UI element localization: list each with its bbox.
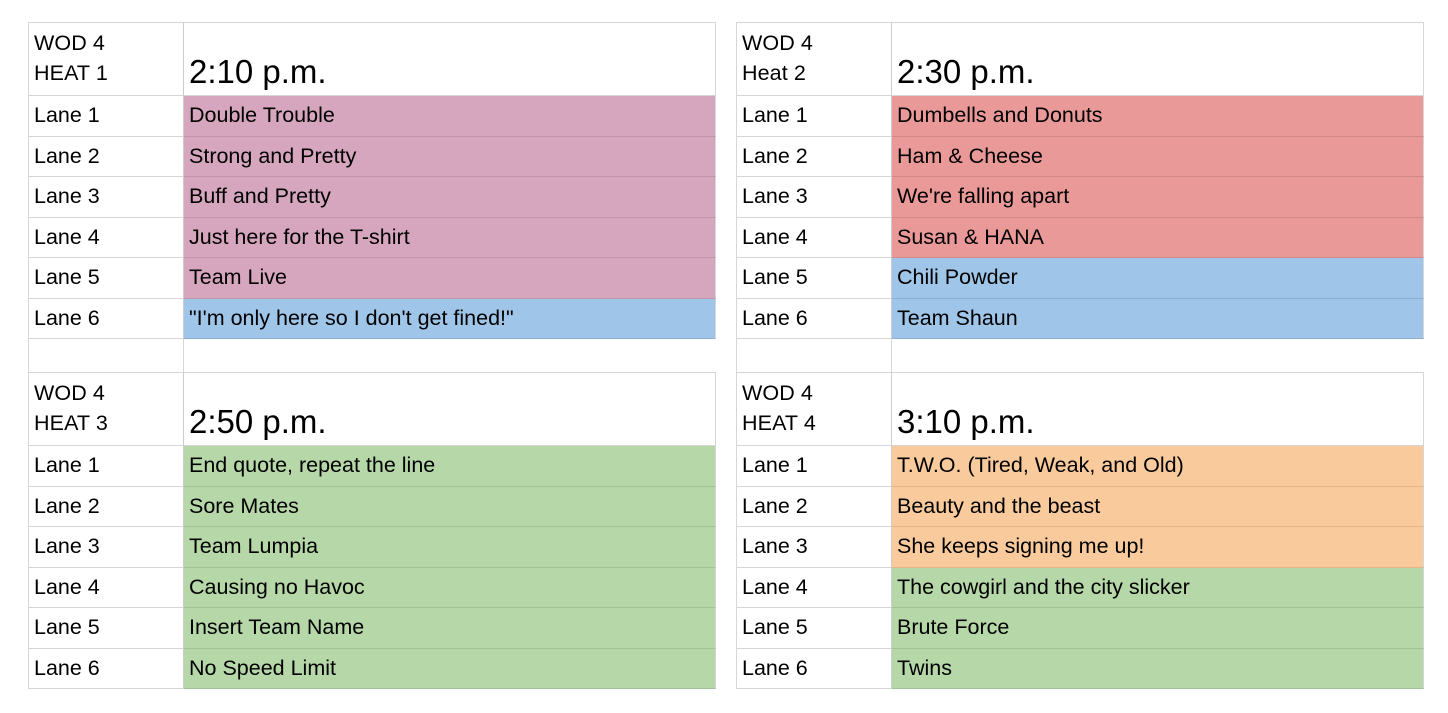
table-row: Lane 1 T.W.O. (Tired, Weak, and Old)	[736, 446, 1424, 487]
team-name: Just here for the T-shirt	[184, 218, 716, 259]
heat-block-4: WOD 4 HEAT 4 3:10 p.m. Lane 1 T.W.O. (Ti…	[736, 372, 1424, 689]
heat-label-3: HEAT 3	[34, 408, 183, 438]
table-row: Lane 1 Double Trouble	[28, 96, 716, 137]
team-name: Insert Team Name	[184, 608, 716, 649]
lane-label: Lane 4	[736, 568, 892, 609]
heat-label-1: HEAT 1	[34, 58, 183, 88]
wod-label-2: WOD 4	[742, 28, 891, 58]
table-row: Lane 4 The cowgirl and the city slicker	[736, 568, 1424, 609]
table-row: Lane 6 Twins	[736, 649, 1424, 690]
team-name: Chili Powder	[892, 258, 1424, 299]
lane-label: Lane 2	[28, 487, 184, 528]
lane-label: Lane 3	[28, 527, 184, 568]
team-name: The cowgirl and the city slicker	[892, 568, 1424, 609]
lane-label: Lane 5	[736, 608, 892, 649]
table-row: Lane 5 Brute Force	[736, 608, 1424, 649]
heat-identifier-2: WOD 4 Heat 2	[736, 22, 892, 96]
lane-label: Lane 5	[736, 258, 892, 299]
table-row: Lane 1 Dumbells and Donuts	[736, 96, 1424, 137]
heat-label-2: Heat 2	[742, 58, 891, 88]
wod-label-3: WOD 4	[34, 378, 183, 408]
heat-identifier-3: WOD 4 HEAT 3	[28, 372, 184, 446]
heat-time-1: 2:10 p.m.	[184, 22, 716, 96]
team-name: Beauty and the beast	[892, 487, 1424, 528]
spacer-row-wrapper	[28, 339, 1424, 372]
table-row: Lane 2 Beauty and the beast	[736, 487, 1424, 528]
table-row: Lane 3 We're falling apart	[736, 177, 1424, 218]
table-row: Lane 6 No Speed Limit	[28, 649, 716, 690]
lane-label: Lane 4	[28, 568, 184, 609]
table-row: Lane 5 Insert Team Name	[28, 608, 716, 649]
wod-label-4: WOD 4	[742, 378, 891, 408]
lane-label: Lane 5	[28, 608, 184, 649]
team-name: Ham & Cheese	[892, 137, 1424, 178]
heat-time-4: 3:10 p.m.	[892, 372, 1424, 446]
heat-schedule-sheet: WOD 4 HEAT 1 2:10 p.m. Lane 1 Double Tro…	[28, 22, 1424, 689]
team-name: Team Live	[184, 258, 716, 299]
team-name: Brute Force	[892, 608, 1424, 649]
heat-block-1: WOD 4 HEAT 1 2:10 p.m. Lane 1 Double Tro…	[28, 22, 716, 339]
table-row: Lane 4 Causing no Havoc	[28, 568, 716, 609]
lane-label: Lane 4	[28, 218, 184, 259]
team-name: No Speed Limit	[184, 649, 716, 690]
lane-label: Lane 6	[736, 649, 892, 690]
table-row: Lane 6 Team Shaun	[736, 299, 1424, 340]
lane-label: Lane 3	[28, 177, 184, 218]
table-row: Lane 5 Chili Powder	[736, 258, 1424, 299]
team-name: Team Shaun	[892, 299, 1424, 340]
lane-label: Lane 2	[736, 487, 892, 528]
team-name: Team Lumpia	[184, 527, 716, 568]
lane-label: Lane 4	[736, 218, 892, 259]
heat-header-4: WOD 4 HEAT 4 3:10 p.m.	[736, 372, 1424, 446]
lane-label: Lane 1	[28, 446, 184, 487]
lane-label: Lane 3	[736, 527, 892, 568]
team-name: T.W.O. (Tired, Weak, and Old)	[892, 446, 1424, 487]
table-row: Lane 5 Team Live	[28, 258, 716, 299]
lane-label: Lane 1	[28, 96, 184, 137]
team-name: Dumbells and Donuts	[892, 96, 1424, 137]
table-row: Lane 4 Susan & HANA	[736, 218, 1424, 259]
table-row: Lane 4 Just here for the T-shirt	[28, 218, 716, 259]
table-row: Lane 6 "I'm only here so I don't get fin…	[28, 299, 716, 340]
table-row: Lane 3 Buff and Pretty	[28, 177, 716, 218]
team-name: Double Trouble	[184, 96, 716, 137]
lane-label: Lane 6	[736, 299, 892, 340]
heat-block-2: WOD 4 Heat 2 2:30 p.m. Lane 1 Dumbells a…	[736, 22, 1424, 339]
heat-identifier-1: WOD 4 HEAT 1	[28, 22, 184, 96]
team-name: Buff and Pretty	[184, 177, 716, 218]
heat-label-4: HEAT 4	[742, 408, 891, 438]
lane-label: Lane 5	[28, 258, 184, 299]
team-name: "I'm only here so I don't get fined!"	[184, 299, 716, 340]
team-name: Sore Mates	[184, 487, 716, 528]
team-name: Twins	[892, 649, 1424, 690]
heat-header-3: WOD 4 HEAT 3 2:50 p.m.	[28, 372, 716, 446]
table-row: Lane 2 Ham & Cheese	[736, 137, 1424, 178]
team-name: She keeps signing me up!	[892, 527, 1424, 568]
heat-block-row-top: WOD 4 HEAT 1 2:10 p.m. Lane 1 Double Tro…	[28, 22, 1424, 339]
lane-label: Lane 6	[28, 299, 184, 340]
heat-header-1: WOD 4 HEAT 1 2:10 p.m.	[28, 22, 716, 96]
wod-label-1: WOD 4	[34, 28, 183, 58]
heat-block-row-bottom: WOD 4 HEAT 3 2:50 p.m. Lane 1 End quote,…	[28, 372, 1424, 689]
lane-label: Lane 6	[28, 649, 184, 690]
heat-block-3: WOD 4 HEAT 3 2:50 p.m. Lane 1 End quote,…	[28, 372, 716, 689]
lane-label: Lane 3	[736, 177, 892, 218]
empty-spacer-row-left	[28, 339, 716, 372]
heat-time-2: 2:30 p.m.	[892, 22, 1424, 96]
table-row: Lane 2 Strong and Pretty	[28, 137, 716, 178]
team-name: Causing no Havoc	[184, 568, 716, 609]
heat-header-2: WOD 4 Heat 2 2:30 p.m.	[736, 22, 1424, 96]
heat-identifier-4: WOD 4 HEAT 4	[736, 372, 892, 446]
lane-label: Lane 2	[736, 137, 892, 178]
team-name: End quote, repeat the line	[184, 446, 716, 487]
heat-time-3: 2:50 p.m.	[184, 372, 716, 446]
lane-label: Lane 2	[28, 137, 184, 178]
empty-spacer-row-right	[736, 339, 1424, 372]
table-row: Lane 3 She keeps signing me up!	[736, 527, 1424, 568]
table-row: Lane 1 End quote, repeat the line	[28, 446, 716, 487]
team-name: We're falling apart	[892, 177, 1424, 218]
team-name: Susan & HANA	[892, 218, 1424, 259]
lane-label: Lane 1	[736, 446, 892, 487]
table-row: Lane 2 Sore Mates	[28, 487, 716, 528]
table-row: Lane 3 Team Lumpia	[28, 527, 716, 568]
lane-label: Lane 1	[736, 96, 892, 137]
team-name: Strong and Pretty	[184, 137, 716, 178]
